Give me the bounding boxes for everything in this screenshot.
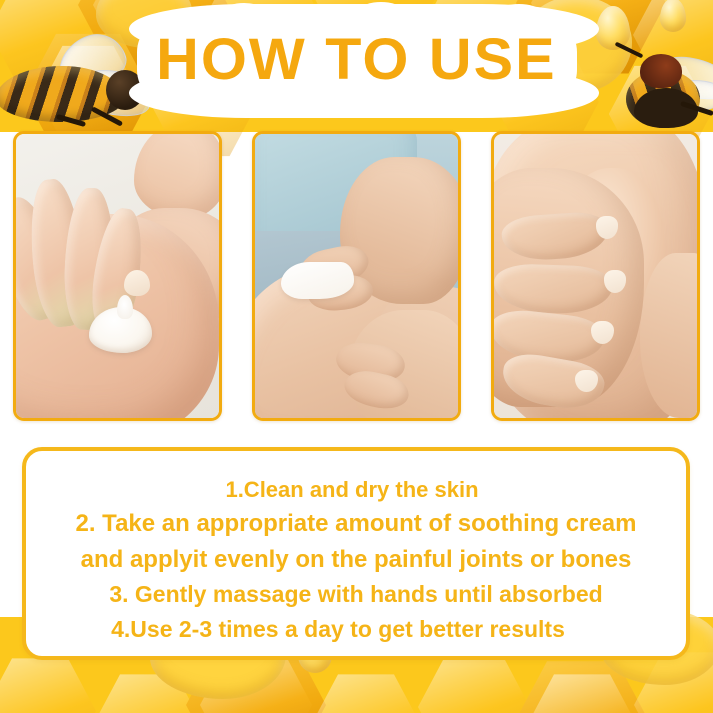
instruction-step-3: 3. Gently massage with hands until absor… bbox=[109, 579, 602, 609]
panel-apply-cream-to-palm bbox=[13, 131, 222, 421]
photo-cream-dollop bbox=[89, 307, 152, 352]
bee-antenna bbox=[615, 42, 644, 59]
photo-cream-on-leg bbox=[255, 134, 458, 418]
photo-cream-smear bbox=[281, 262, 354, 299]
instruction-step-2-line-1: 2. Take an appropriate amount of soothin… bbox=[76, 508, 637, 540]
how-to-use-poster: HOW TO USE bbox=[0, 0, 713, 713]
panel-massage-knee bbox=[491, 131, 700, 421]
photo-cream-on-palm bbox=[16, 134, 219, 418]
honey-drop bbox=[660, 0, 686, 32]
page-title: HOW TO USE bbox=[156, 31, 557, 92]
bee-head bbox=[640, 54, 682, 88]
photo-panel-row bbox=[13, 131, 700, 421]
instruction-step-2-line-2: and applyit evenly on the painful joints… bbox=[81, 544, 632, 576]
bee-icon bbox=[588, 36, 713, 132]
instruction-step-1: 1.Clean and dry the skin bbox=[225, 475, 478, 504]
instruction-step-4: 4.Use 2-3 times a day to get better resu… bbox=[111, 614, 565, 644]
panel-apply-cream-to-leg bbox=[252, 131, 461, 421]
page-title-container: HOW TO USE bbox=[137, 18, 577, 104]
photo-thumb bbox=[134, 134, 219, 219]
instructions-box: 1.Clean and dry the skin 2. Take an appr… bbox=[22, 447, 690, 660]
photo-knee-massage bbox=[494, 134, 697, 418]
photo-fingernail bbox=[124, 270, 150, 296]
